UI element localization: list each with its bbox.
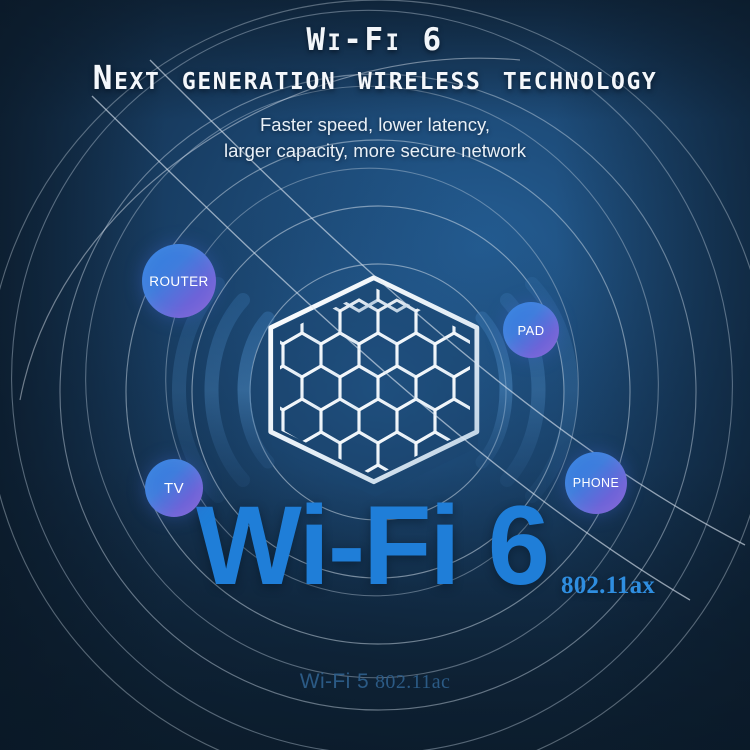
- device-badge-tv[interactable]: TV: [145, 459, 203, 517]
- feature-description: Faster speed, lower latency, larger capa…: [0, 112, 750, 164]
- wifi6-standard-label: 802.11ax: [561, 572, 655, 600]
- device-badge-phone-label: PHONE: [573, 476, 619, 490]
- device-badge-pad-label: PAD: [518, 323, 545, 338]
- feature-line-2: larger capacity, more secure network: [0, 138, 750, 164]
- page-subtitle-headline: Next generation wireless technology: [0, 58, 750, 97]
- wifi6-wordmark: Wi-Fi 6: [196, 492, 616, 602]
- wifi5-label: Wi-Fi 5: [300, 670, 369, 693]
- device-badge-tv-label: TV: [164, 480, 184, 497]
- device-badge-phone[interactable]: PHONE: [565, 452, 627, 514]
- feature-line-1: Faster speed, lower latency,: [0, 112, 750, 138]
- page-title: Wi-Fi 6: [0, 22, 750, 58]
- device-badge-router[interactable]: ROUTER: [142, 244, 216, 318]
- legacy-standard-row: Wi-Fi 5802.11ac: [0, 670, 750, 694]
- device-badge-pad[interactable]: PAD: [503, 302, 559, 358]
- wifi5-standard-label: 802.11ac: [375, 671, 450, 693]
- poster-canvas: Wi-Fi 6 Next generation wireless technol…: [0, 0, 750, 750]
- device-badge-router-label: ROUTER: [149, 274, 208, 289]
